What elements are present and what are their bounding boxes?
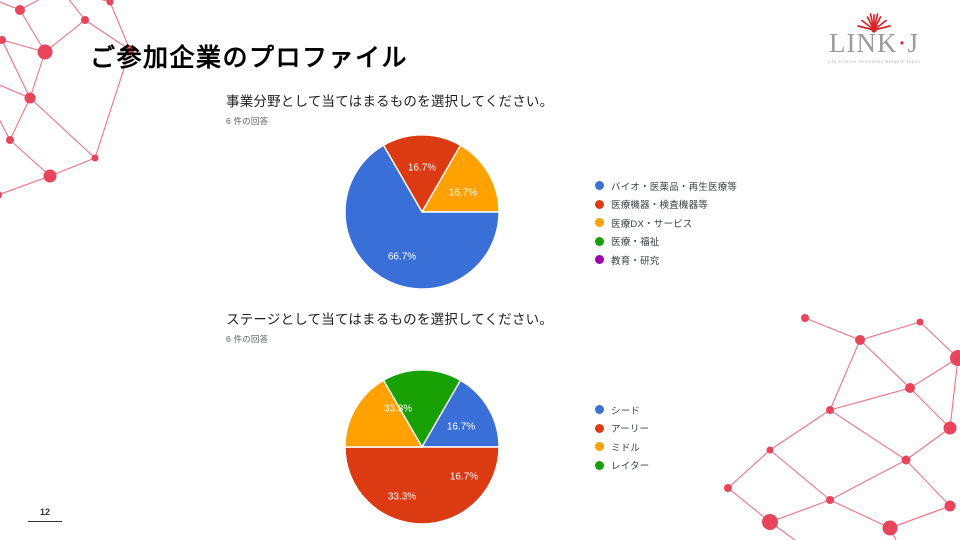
legend-dot-icon (595, 181, 604, 190)
chart-row-1: 16.7% 16.7% 66.7% バイオ・医薬品・再生医療等 医療機器・検査機… (226, 127, 786, 297)
logo-word-left: LINK (829, 28, 897, 58)
pie-slice-early[interactable] (345, 447, 499, 524)
legend-item-later[interactable]: レイター (595, 458, 649, 472)
decorative-network-top-left (0, 0, 160, 200)
legend-item-early[interactable]: アーリー (595, 421, 649, 435)
legend-label: シード (611, 403, 640, 417)
legend-stage: シード アーリー ミドル レイター (595, 403, 649, 477)
logo-word-right: J (907, 28, 919, 58)
pie-svg-2: 16.7% 16.7% 33.3% 33.3% (340, 367, 510, 532)
legend-label: レイター (611, 458, 649, 472)
logo-wordmark: LINK·J (810, 30, 938, 57)
chart-row-2: 16.7% 16.7% 33.3% 33.3% シード アーリー ミドル (226, 345, 786, 515)
legend-dot-icon (595, 237, 604, 246)
pie-svg-1: 16.7% 16.7% 66.7% (340, 132, 510, 294)
legend-item-medical-device[interactable]: 医療機器・検査機器等 (595, 197, 737, 211)
legend-label: 医療機器・検査機器等 (611, 197, 708, 211)
chart-question-2: ステージとして当てはまるものを選択してください。 (226, 311, 786, 329)
legend-label: アーリー (611, 421, 649, 435)
legend-item-education-research[interactable]: 教育・研究 (595, 253, 737, 267)
legend-item-medical-welfare[interactable]: 医療・福祉 (595, 234, 737, 248)
logo-tagline: Life Science Innovation Network Japan (810, 59, 938, 64)
legend-business-field: バイオ・医薬品・再生医療等 医療機器・検査機器等 医療DX・サービス 医療・福祉… (595, 179, 737, 272)
logo-word-dash: · (897, 28, 907, 58)
legend-item-bio-pharma[interactable]: バイオ・医薬品・再生医療等 (595, 179, 737, 193)
pie-chart-business-field: 16.7% 16.7% 66.7% (340, 132, 510, 299)
page-title: ご参加企業のプロファイル (90, 38, 408, 74)
legend-dot-icon (595, 218, 604, 227)
pie-label-medical-dx: 16.7% (449, 187, 477, 198)
legend-label: バイオ・医薬品・再生医療等 (611, 179, 737, 193)
slide-canvas: LINK·J Life Science Innovation Network J… (0, 0, 960, 540)
legend-dot-icon (595, 405, 604, 414)
chart-response-count-1: 6 件の回答 (226, 115, 786, 127)
legend-label: ミドル (611, 440, 640, 454)
legend-label: 医療・福祉 (611, 234, 660, 248)
pie-label-seed: 16.7% (450, 471, 478, 482)
legend-dot-icon (595, 255, 604, 264)
legend-item-middle[interactable]: ミドル (595, 440, 649, 454)
pie-label-middle: 33.3% (384, 403, 412, 414)
pie-label-later: 16.7% (447, 421, 475, 432)
pie-chart-stage: 16.7% 16.7% 33.3% 33.3% (340, 367, 510, 537)
legend-dot-icon (595, 461, 604, 470)
pie-label-early: 33.3% (388, 491, 416, 502)
chart-block-stage: ステージとして当てはまるものを選択してください。 6 件の回答 16.7% 16… (226, 311, 786, 515)
legend-dot-icon (595, 424, 604, 433)
pie-label-bio-pharma: 66.7% (388, 251, 416, 262)
legend-dot-icon (595, 200, 604, 209)
legend-dot-icon (595, 442, 604, 451)
legend-label: 教育・研究 (611, 253, 660, 267)
legend-label: 医療DX・サービス (611, 216, 693, 230)
chart-question-1: 事業分野として当てはまるものを選択してください。 (226, 93, 786, 111)
chart-response-count-2: 6 件の回答 (226, 333, 786, 345)
page-number: 12 (28, 507, 62, 522)
legend-item-seed[interactable]: シード (595, 403, 649, 417)
link-j-logo: LINK·J Life Science Innovation Network J… (810, 12, 938, 68)
legend-item-medical-dx[interactable]: 医療DX・サービス (595, 216, 737, 230)
pie-label-medical-device: 16.7% (408, 162, 436, 173)
chart-block-business-field: 事業分野として当てはまるものを選択してください。 6 件の回答 16.7% 16… (226, 93, 786, 297)
